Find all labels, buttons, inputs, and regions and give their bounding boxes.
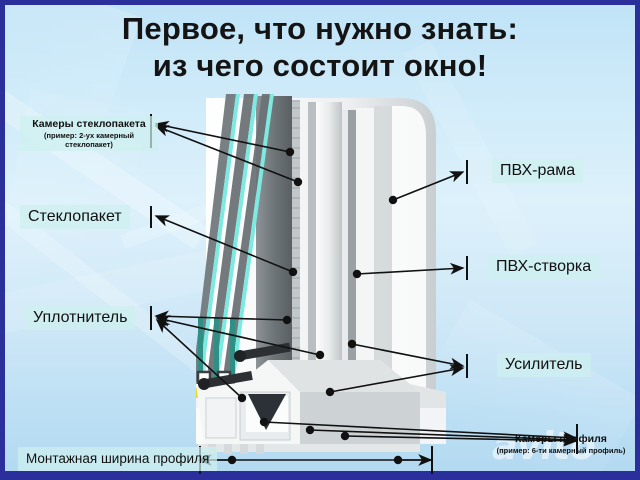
label-glass-chambers-sub2: стеклопакет) <box>28 140 150 149</box>
leader-glass-unit <box>156 216 293 272</box>
tick-seal <box>150 306 152 330</box>
label-pvc-sash: ПВХ-створка <box>488 255 599 279</box>
label-glass-chambers: Камеры стеклопакета (пример: 2-ух камерн… <box>20 116 158 151</box>
label-profile-chambers: Камеры профиля (пример: 6-ти камерный пр… <box>478 431 640 457</box>
leader-seal-3 <box>157 320 242 398</box>
label-pvc-frame-title: ПВХ-рама <box>500 161 575 181</box>
tick-pvc-sash <box>466 256 468 280</box>
leader-reinforcement-2 <box>330 368 463 392</box>
label-glass-chambers-sub1: (пример: 2-ух камерный <box>28 131 150 140</box>
label-profile-chambers-title: Камеры профиля <box>486 433 636 446</box>
label-pvc-sash-title: ПВХ-створка <box>496 257 591 277</box>
label-reinforcement-title: Усилитель <box>505 355 583 375</box>
label-profile-width: Монтажная ширина профиля <box>18 447 217 471</box>
leader-reinforcement-1 <box>352 344 463 366</box>
leader-pvc-sash <box>357 268 463 274</box>
label-profile-width-title: Монтажная ширина профиля <box>26 449 209 469</box>
leader-glass-chambers-1 <box>156 124 290 152</box>
slide-canvas: Первое, что нужно знать: из чего состоит… <box>0 0 640 480</box>
tick-profile-width-right <box>431 446 433 474</box>
tick-glass-unit <box>150 206 152 228</box>
label-profile-chambers-sub1: (пример: 6-ти камерный профиль) <box>486 446 636 455</box>
label-pvc-frame: ПВХ-рама <box>492 159 583 183</box>
label-seal-title: Уплотнитель <box>33 308 127 328</box>
label-glass-chambers-title: Камеры стеклопакета <box>28 118 150 131</box>
label-reinforcement: Усилитель <box>497 353 591 377</box>
label-glass-unit: Стеклопакет <box>20 205 130 229</box>
tick-pvc-frame <box>466 160 468 184</box>
tick-reinforcement <box>466 354 468 378</box>
leader-seal-2 <box>157 318 320 355</box>
leader-glass-chambers-2 <box>156 126 298 182</box>
leader-pvc-frame <box>393 172 463 200</box>
leader-lines <box>0 0 640 480</box>
label-seal: Уплотнитель <box>25 306 135 330</box>
leader-dots <box>228 148 402 464</box>
label-glass-unit-title: Стеклопакет <box>28 207 122 227</box>
leader-seal-1 <box>156 316 287 320</box>
